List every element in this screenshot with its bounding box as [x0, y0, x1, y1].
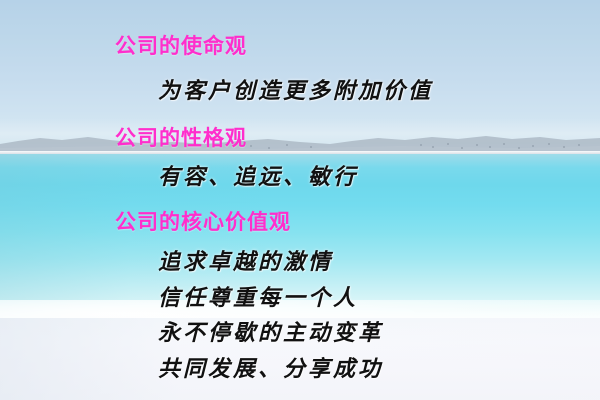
- section-line-core-values-1: 追求卓越的激情: [158, 251, 333, 273]
- section-heading-core-values: 公司的核心价值观: [115, 212, 291, 233]
- section-line-character-1: 有容、追远、敏行: [158, 166, 358, 188]
- section-line-core-values-3: 永不停歇的主动变革: [158, 322, 383, 344]
- section-heading-mission: 公司的使命观: [115, 36, 247, 57]
- section-heading-character: 公司的性格观: [115, 128, 247, 149]
- section-line-core-values-2: 信任尊重每一个人: [158, 287, 358, 309]
- slide-text-content: 公司的使命观 为客户创造更多附加价值 公司的性格观 有容、追远、敏行 公司的核心…: [0, 0, 600, 400]
- section-line-core-values-4: 共同发展、分享成功: [158, 358, 383, 380]
- slide-canvas: 公司的使命观 为客户创造更多附加价值 公司的性格观 有容、追远、敏行 公司的核心…: [0, 0, 600, 400]
- section-line-mission-1: 为客户创造更多附加价值: [158, 80, 433, 102]
